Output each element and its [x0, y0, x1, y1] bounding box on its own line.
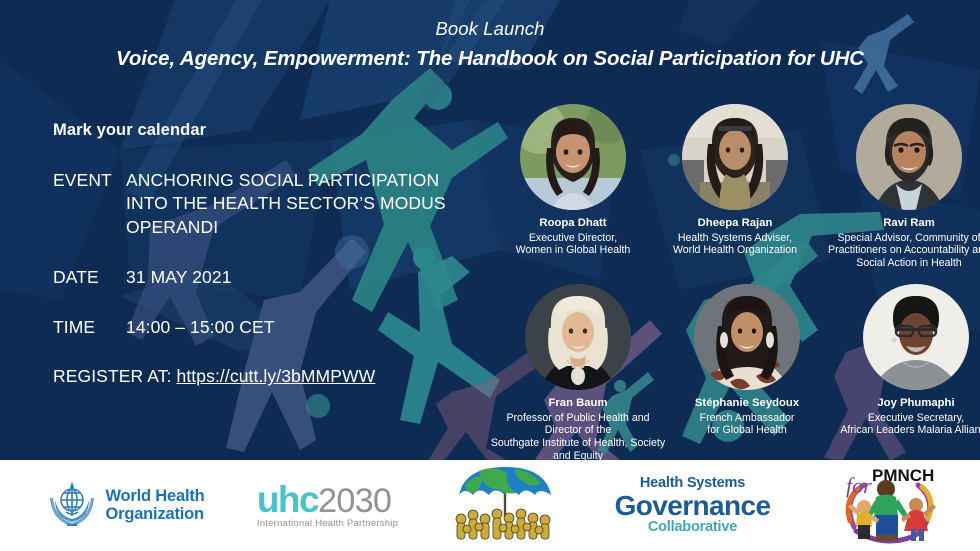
avatar: [520, 104, 626, 210]
speaker-role: French Ambassador for Global Health: [666, 412, 828, 438]
detail-row-time: TIME 14:00 – 15:00 CET: [53, 316, 473, 339]
pmnch-logo: PMNCH for: [800, 461, 980, 550]
gov-logo-line2: Governance: [615, 491, 771, 520]
register-at-label: REGISTER AT:: [53, 366, 177, 386]
partner-logo-bar: World Health Organization uhc 2030 Inter…: [0, 460, 980, 551]
detail-value-date: 31 MAY 2021: [126, 266, 473, 289]
speaker-role: Executive Director, Women in Global Heal…: [492, 232, 654, 258]
speaker-name: Stéphanie Seydoux: [666, 397, 828, 411]
speaker-grid: Roopa Dhatt Executive Director, Women in…: [492, 104, 980, 456]
registration-line: REGISTER AT: https://cutt.ly/3bMMPWW: [53, 366, 473, 387]
page-title: Voice, Agency, Empowerment: The Handbook…: [0, 47, 980, 71]
speaker-role: Health Systems Adviser, World Health Org…: [654, 232, 816, 258]
uhc2030-subtitle: International Health Partnership: [257, 518, 398, 529]
speaker-name: Joy Phumaphi: [828, 397, 980, 411]
speaker-name: Roopa Dhatt: [492, 217, 654, 231]
gov-logo-line3: Collaborative: [615, 520, 771, 535]
uhc2030-number: 2030: [318, 485, 391, 517]
poster-canvas: Book Launch Voice, Agency, Empowerment: …: [0, 0, 980, 551]
speaker-name: Dheepa Rajan: [654, 217, 816, 231]
speaker-row-top: Roopa Dhatt Executive Director, Women in…: [492, 104, 980, 270]
pmnch-emblem-icon: PMNCH for: [820, 461, 960, 550]
speaker-name: Ravi Ram: [816, 217, 980, 231]
avatar: [694, 284, 800, 390]
speaker-role: Special Advisor, Community of Practition…: [816, 232, 980, 271]
avatar: [856, 104, 962, 210]
who-logo-line1: World Health: [105, 487, 204, 505]
event-detail-rows: EVENT ANCHORING SOCIAL PARTICIPATION INT…: [53, 169, 473, 387]
umbrella-logo: [425, 465, 585, 546]
speaker-card-fran-baum: Fran Baum Professor of Public Health and…: [490, 284, 666, 476]
avatar: [682, 104, 788, 210]
detail-value-time: 14:00 – 15:00 CET: [126, 316, 473, 339]
mark-your-calendar-label: Mark your calendar: [53, 121, 473, 140]
speaker-card-roopa-dhatt: Roopa Dhatt Executive Director, Women in…: [492, 104, 654, 270]
avatar: [863, 284, 969, 390]
speaker-card-ravi-ram: Ravi Ram Special Advisor, Community of P…: [816, 104, 980, 270]
uhc2030-logo: uhc 2030 International Health Partnershi…: [230, 482, 425, 529]
uhc2030-wordmark: uhc: [257, 482, 318, 517]
health-systems-governance-collaborative-logo: Health Systems Governance Collaborative: [585, 476, 800, 535]
svg-text:for: for: [846, 473, 872, 498]
detail-label-date: DATE: [53, 266, 126, 289]
umbrella-people-icon: [445, 465, 565, 546]
poster-header: Book Launch Voice, Agency, Empowerment: …: [0, 0, 980, 71]
detail-label-event: EVENT: [53, 169, 126, 192]
who-emblem-icon: [47, 478, 97, 533]
event-kicker: Book Launch: [0, 18, 980, 40]
who-logo: World Health Organization: [0, 478, 230, 533]
event-details: Mark your calendar EVENT ANCHORING SOCIA…: [53, 121, 473, 387]
detail-row-date: DATE 31 MAY 2021: [53, 266, 473, 289]
detail-value-event: ANCHORING SOCIAL PARTICIPATION INTO THE …: [126, 169, 473, 239]
speaker-name: Fran Baum: [490, 397, 666, 411]
speaker-role: Executive Secretary, African Leaders Mal…: [828, 412, 980, 438]
who-logo-line2: Organization: [105, 505, 203, 523]
who-logo-text: World Health Organization: [105, 488, 204, 523]
speaker-row-bottom: Fran Baum Professor of Public Health and…: [490, 284, 980, 476]
speaker-card-joy-phumaphi: Joy Phumaphi Executive Secretary, Africa…: [828, 284, 980, 476]
registration-link[interactable]: https://cutt.ly/3bMMPWW: [177, 366, 376, 386]
speaker-card-dheepa-rajan: Dheepa Rajan Health Systems Adviser, Wor…: [654, 104, 816, 270]
speaker-card-stephanie-seydoux: Stéphanie Seydoux French Ambassador for …: [666, 284, 828, 476]
avatar: [525, 284, 631, 390]
detail-label-time: TIME: [53, 316, 126, 339]
gov-logo-line1: Health Systems: [615, 476, 771, 491]
detail-row-event: EVENT ANCHORING SOCIAL PARTICIPATION INT…: [53, 169, 473, 239]
